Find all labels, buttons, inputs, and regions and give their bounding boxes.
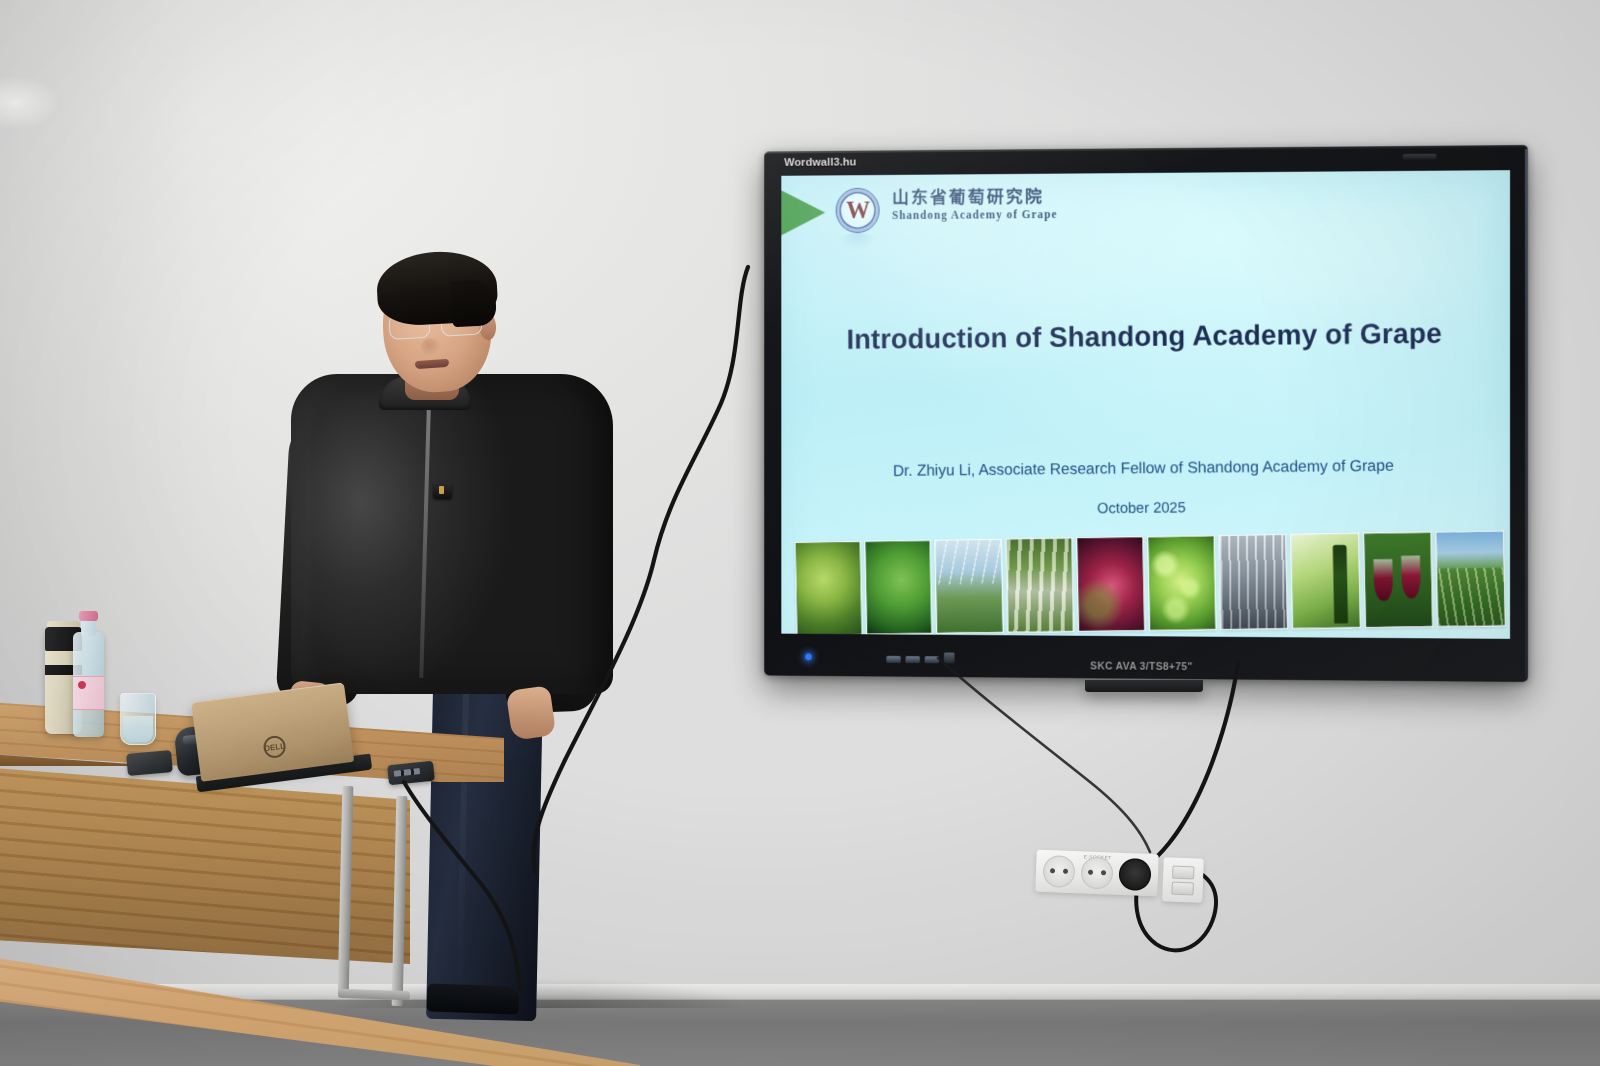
ethernet-port[interactable] bbox=[1171, 882, 1193, 896]
water-bottle[interactable] bbox=[73, 632, 104, 737]
wall-socket-occupied[interactable] bbox=[1118, 858, 1151, 891]
interactive-display[interactable]: Wordwall3.hu SKC AVA 3/TS8+75" W 山东省葡萄研究… bbox=[764, 145, 1528, 682]
bezel-brand-label: Wordwall3.hu bbox=[784, 157, 856, 169]
filmstrip-image bbox=[1363, 532, 1433, 629]
academy-logo-icon: W bbox=[836, 188, 880, 233]
slide-image-strip bbox=[795, 530, 1506, 635]
presenter-jacket bbox=[291, 374, 613, 694]
water-glass[interactable] bbox=[120, 693, 156, 745]
filmstrip-image bbox=[1147, 535, 1216, 631]
slide-date-line: October 2025 bbox=[781, 496, 1510, 520]
filmstrip-image bbox=[795, 541, 863, 636]
bezel-side-highlight bbox=[1525, 149, 1528, 678]
wall-socket[interactable] bbox=[1080, 856, 1113, 889]
smartphone[interactable] bbox=[126, 750, 173, 776]
display-ports[interactable] bbox=[886, 652, 954, 663]
slide-title: Introduction of Shandong Academy of Grap… bbox=[781, 317, 1510, 357]
green-triangle-icon bbox=[781, 190, 825, 235]
display-wall-mount bbox=[1085, 680, 1203, 692]
slide-header: W 山东省葡萄研究院 Shandong Academy of Grape bbox=[781, 181, 1510, 239]
presentation-slide[interactable]: W 山东省葡萄研究院 Shandong Academy of Grape Int… bbox=[781, 170, 1510, 639]
filmstrip-image bbox=[1219, 534, 1289, 630]
power-led-icon bbox=[805, 653, 812, 660]
filmstrip-image bbox=[1076, 536, 1145, 632]
presenter-hair bbox=[375, 249, 499, 327]
bottle-label bbox=[73, 676, 104, 710]
filmstrip-image bbox=[865, 540, 933, 635]
org-name-block: 山东省葡萄研究院 Shandong Academy of Grape bbox=[892, 187, 1057, 222]
wall-socket-plate[interactable]: E-SOCKET bbox=[1035, 850, 1159, 897]
filmstrip-image bbox=[1005, 537, 1074, 632]
wall-socket[interactable] bbox=[1042, 855, 1075, 888]
data-port-plate[interactable] bbox=[1162, 857, 1204, 903]
presenter-nose bbox=[421, 338, 441, 356]
room-scene: DELL Wordwall3.hu SKC AVA 3/TS8+75" W 山东… bbox=[0, 0, 1600, 1066]
lapel-microphone bbox=[433, 482, 452, 499]
filmstrip-image bbox=[1435, 530, 1506, 627]
display-model-label: SKC AVA 3/TS8+75" bbox=[1090, 661, 1193, 674]
org-name-en: Shandong Academy of Grape bbox=[892, 209, 1057, 222]
ethernet-port[interactable] bbox=[1172, 866, 1194, 880]
org-name-cn: 山东省葡萄研究院 bbox=[892, 187, 1057, 208]
logo-reflection bbox=[839, 233, 877, 251]
filmstrip-image bbox=[935, 539, 1004, 634]
filmstrip-image bbox=[1291, 533, 1361, 629]
bottle-cap bbox=[79, 611, 98, 621]
logo-ring bbox=[839, 192, 875, 229]
display-camera-icon bbox=[1403, 154, 1437, 160]
slide-presenter-line: Dr. Zhiyu Li, Associate Research Fellow … bbox=[781, 456, 1510, 481]
